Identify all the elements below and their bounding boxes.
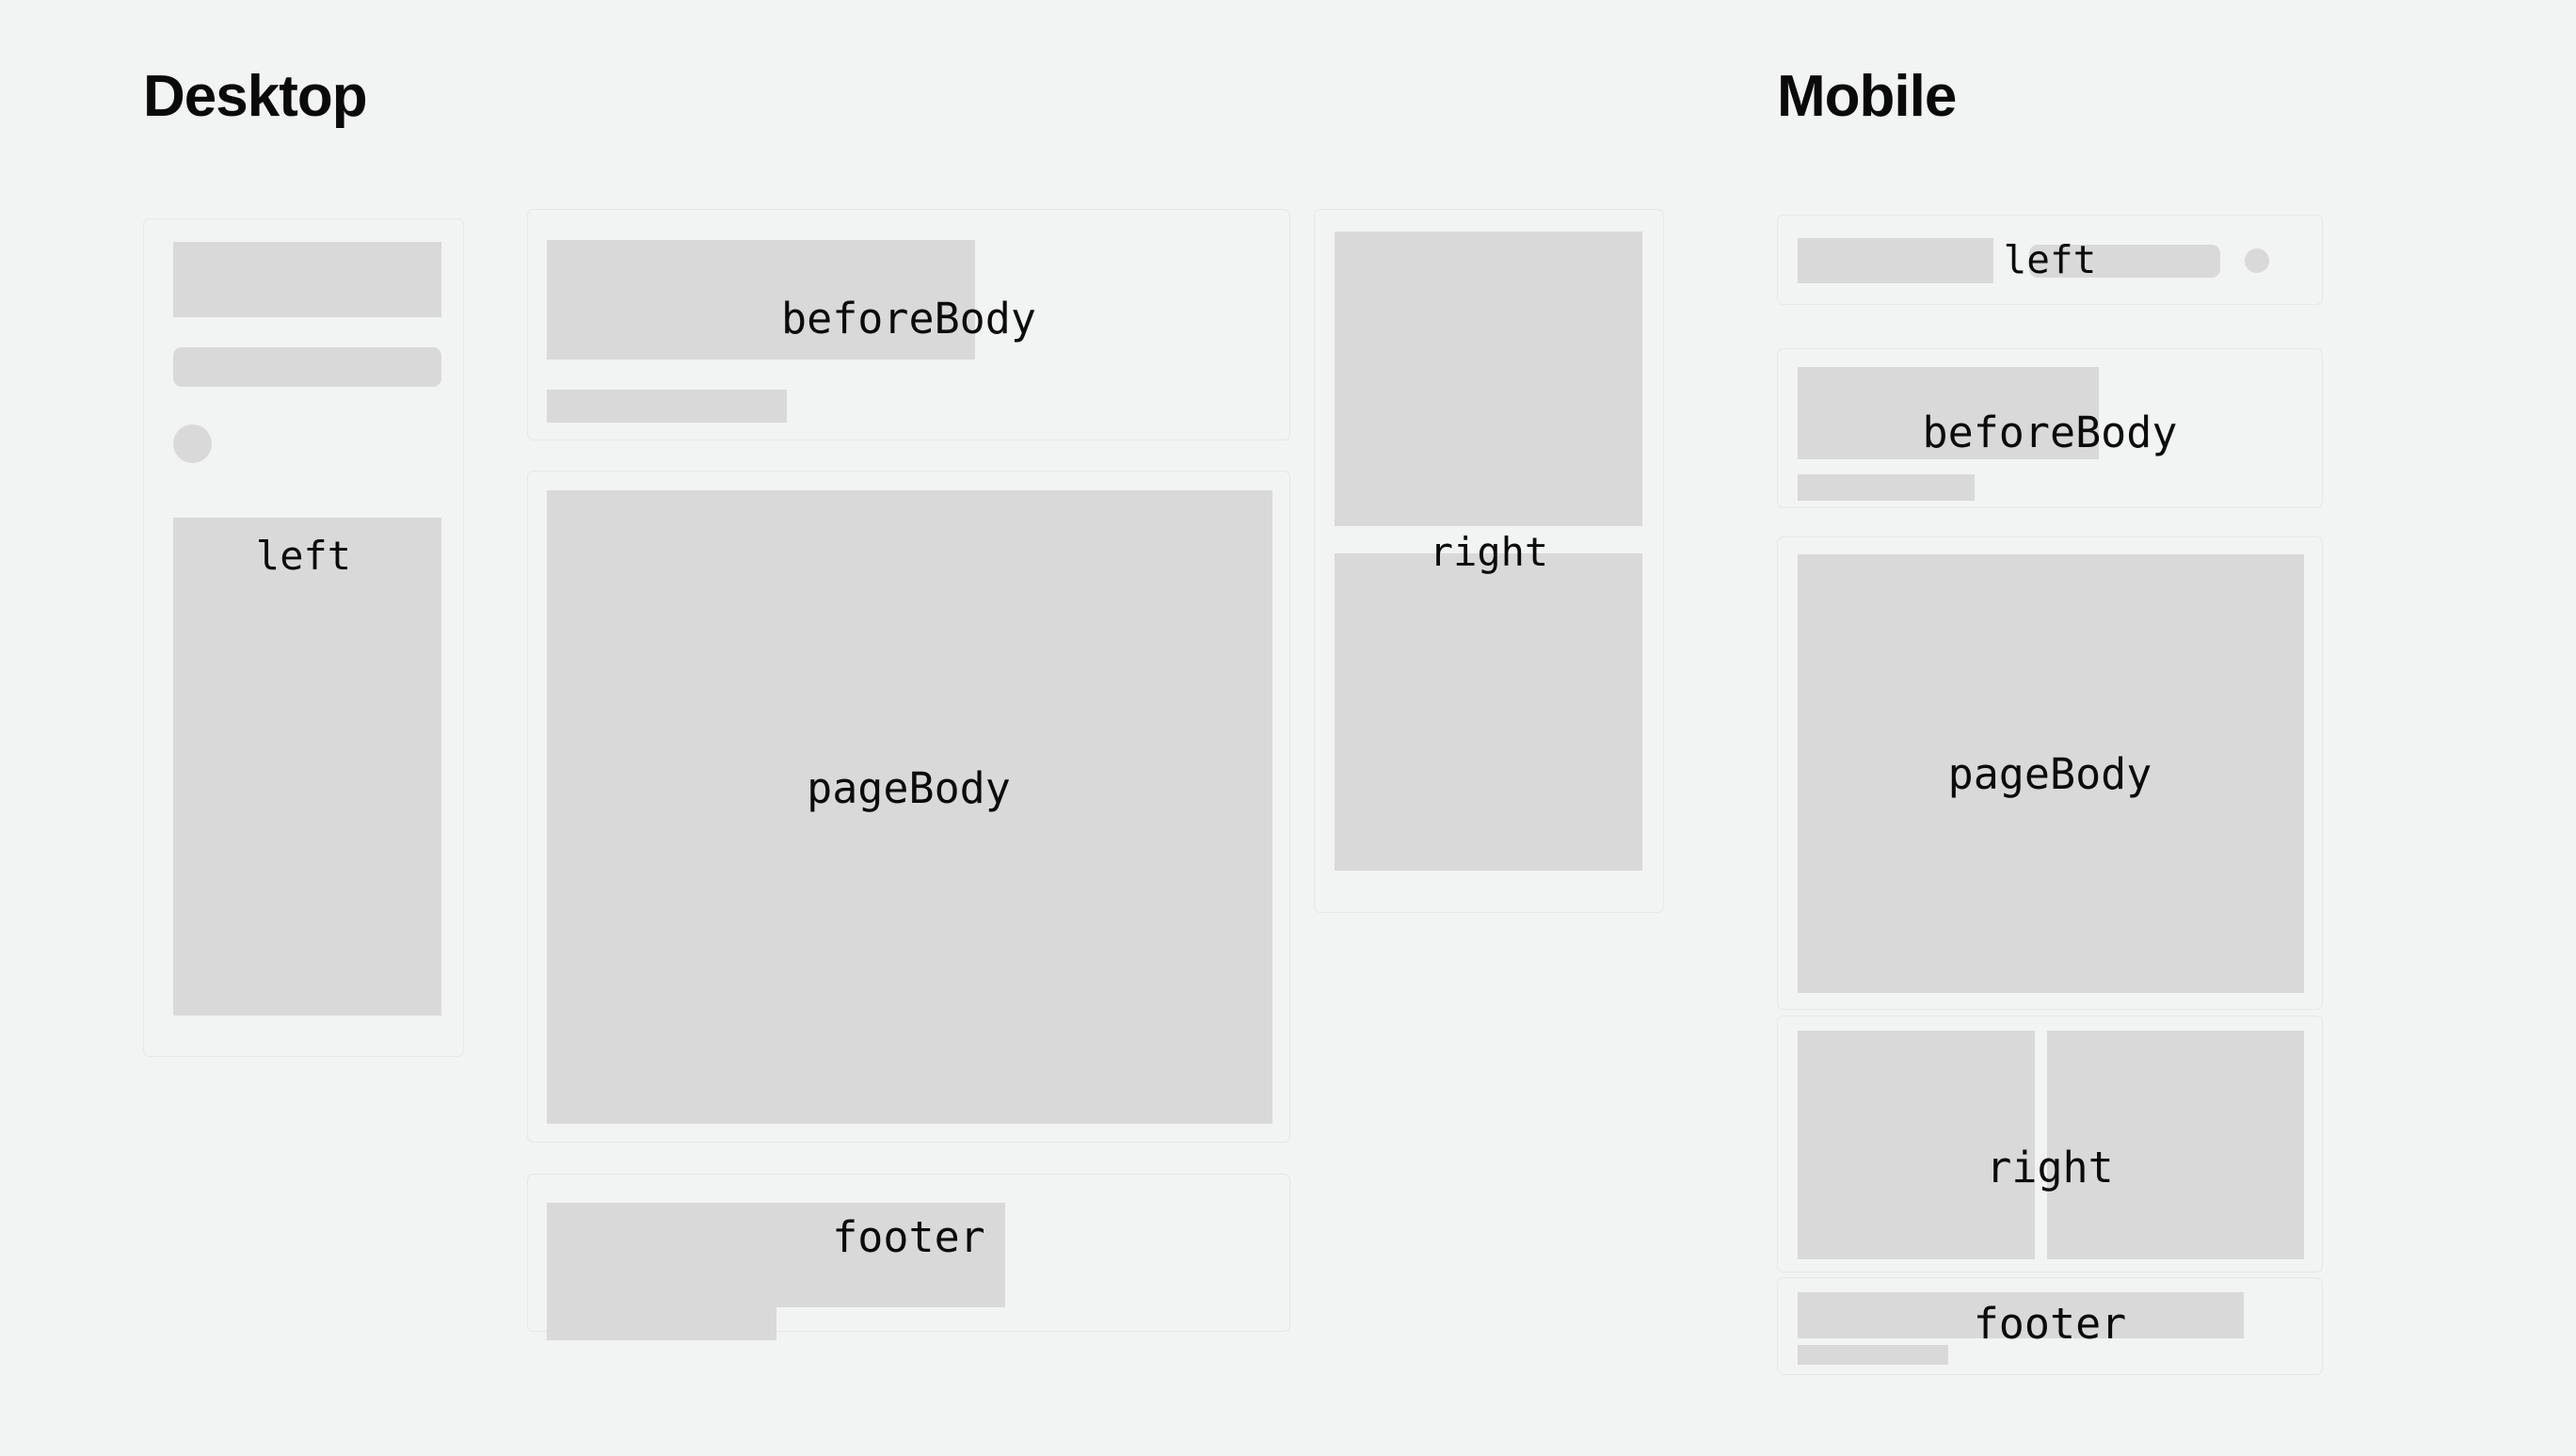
skeleton-circle xyxy=(173,424,212,463)
skeleton-block xyxy=(1798,554,2304,993)
skeleton-block xyxy=(1798,367,2099,459)
skeleton-block xyxy=(2047,1031,2304,1259)
skeleton-block xyxy=(1335,553,1642,871)
mobile-pagebody-slot-panel[interactable] xyxy=(1777,536,2323,1010)
desktop-left-slot-panel[interactable] xyxy=(143,218,464,1057)
desktop-section-heading: Desktop xyxy=(143,68,367,126)
desktop-pagebody-slot-panel[interactable] xyxy=(527,471,1290,1143)
skeleton-block xyxy=(1798,1292,2244,1338)
skeleton-block xyxy=(547,1289,776,1340)
skeleton-block xyxy=(1798,1345,1948,1365)
skeleton-block xyxy=(1798,238,1993,283)
skeleton-block xyxy=(1798,1031,2035,1259)
skeleton-circle xyxy=(2245,248,2269,273)
mobile-section-heading: Mobile xyxy=(1777,68,1956,126)
skeleton-block xyxy=(547,490,1272,1124)
skeleton-block xyxy=(173,347,441,387)
mobile-right-slot-panel[interactable] xyxy=(1777,1016,2323,1272)
desktop-beforebody-slot-panel[interactable] xyxy=(527,209,1290,440)
skeleton-block xyxy=(173,518,441,1016)
mobile-left-slot-panel[interactable] xyxy=(1777,215,2323,305)
skeleton-block xyxy=(547,240,975,360)
desktop-right-slot-panel[interactable] xyxy=(1314,209,1664,913)
skeleton-block xyxy=(173,242,441,317)
mobile-footer-slot-panel[interactable] xyxy=(1777,1277,2323,1375)
mobile-beforebody-slot-panel[interactable] xyxy=(1777,348,2323,508)
skeleton-block xyxy=(547,390,787,423)
desktop-footer-slot-panel[interactable] xyxy=(527,1174,1290,1332)
skeleton-block xyxy=(2029,245,2220,278)
skeleton-block xyxy=(1798,474,1975,501)
skeleton-block xyxy=(1335,232,1642,526)
